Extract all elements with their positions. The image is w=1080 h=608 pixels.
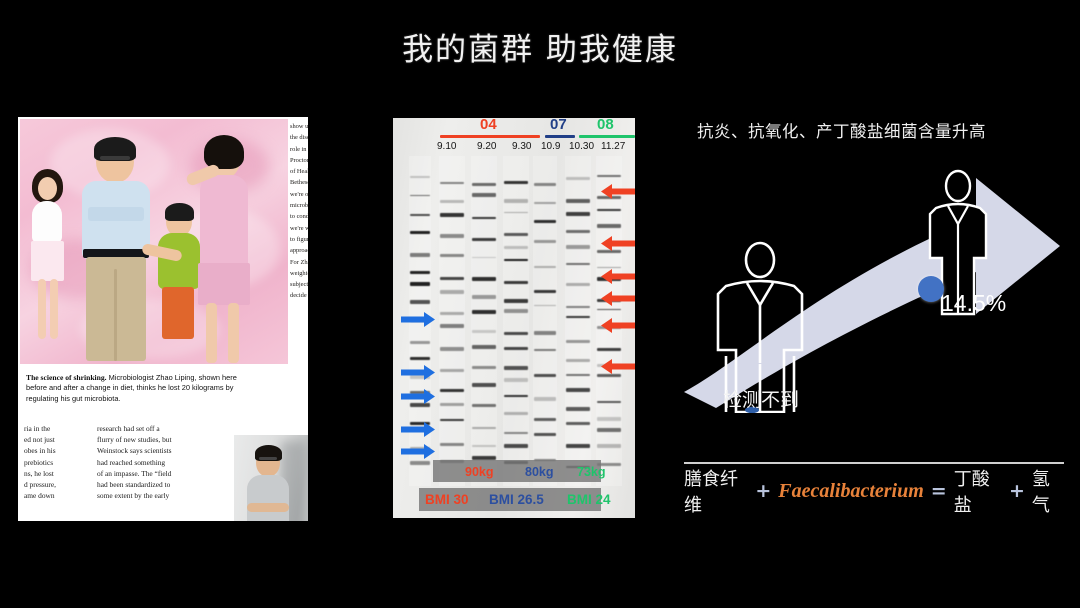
magazine-body-line: some extent by the early bbox=[97, 490, 201, 501]
gel-band bbox=[440, 213, 464, 217]
gel-band bbox=[504, 199, 528, 203]
gel-band bbox=[472, 310, 496, 314]
gel-band bbox=[440, 254, 464, 257]
gel-band bbox=[597, 444, 621, 448]
gel-band bbox=[504, 259, 528, 261]
magazine-side-line: the disease bbox=[290, 132, 308, 143]
gel-band bbox=[410, 341, 430, 344]
gel-band bbox=[440, 200, 464, 203]
gel-band bbox=[410, 214, 430, 216]
magazine-body-line: ns, he lost bbox=[24, 468, 88, 479]
gel-band bbox=[472, 445, 496, 448]
gel-band bbox=[566, 230, 590, 233]
gel-band bbox=[566, 212, 590, 216]
gel-band bbox=[597, 417, 621, 421]
gel-band bbox=[472, 183, 496, 185]
gel-band bbox=[597, 224, 621, 228]
gel-band bbox=[410, 271, 430, 274]
gel-date-label: 9.10 bbox=[437, 141, 456, 152]
photo-caption: The science of shrinking. Microbiologist… bbox=[26, 373, 238, 404]
slide-root: 我的菌群 助我健康 bbox=[0, 0, 1080, 608]
gel-band bbox=[472, 345, 496, 349]
after-photo-inset bbox=[232, 433, 308, 521]
magazine-side-line: to conduc bbox=[290, 211, 308, 222]
magazine-side-line: role in is ju bbox=[290, 144, 308, 155]
gel-band bbox=[504, 181, 528, 183]
dgge-gel-panel: 0407089.109.209.3010.910.3011.27 90kg80k… bbox=[385, 108, 643, 526]
magazine-clipping: show up onthe diseaserole in is juProcto… bbox=[18, 117, 308, 521]
gel-band bbox=[472, 217, 496, 219]
gel-band bbox=[410, 231, 430, 235]
gel-group-label: 04 bbox=[480, 116, 497, 133]
magazine-body-col-left: ria in theed not justobes in hisprebioti… bbox=[24, 423, 88, 501]
magazine-side-line: we're only bbox=[290, 189, 308, 200]
magazine-body-line: obes in his bbox=[24, 445, 88, 456]
gel-arrow-increase bbox=[601, 290, 635, 307]
equation-plus-2: + bbox=[1009, 480, 1025, 502]
equation-species: Faecalibacterium bbox=[778, 480, 924, 503]
gel-band bbox=[440, 389, 464, 392]
gel-band bbox=[440, 234, 464, 238]
gel-band bbox=[534, 397, 556, 401]
equation-term-butyrate: 丁酸盐 bbox=[954, 465, 1002, 517]
gel-arrow-decrease bbox=[401, 421, 435, 438]
gel-band bbox=[566, 388, 590, 392]
gel-group-underline bbox=[440, 135, 540, 138]
gel-band bbox=[472, 295, 496, 299]
gel-band bbox=[534, 220, 556, 223]
magazine-body-line: research had set off a bbox=[97, 423, 201, 434]
gel-band bbox=[566, 306, 590, 308]
gel-band bbox=[534, 266, 556, 268]
gel-arrow-increase bbox=[601, 268, 635, 285]
gel-band bbox=[534, 183, 556, 186]
gel-weight-label: 73kg bbox=[577, 465, 606, 479]
gel-band bbox=[566, 340, 590, 343]
caption-lead: The science of shrinking. bbox=[26, 373, 107, 382]
gel-date-label: 9.30 bbox=[512, 141, 531, 152]
gel-band bbox=[597, 175, 621, 178]
gel-weight-label: 90kg bbox=[465, 465, 494, 479]
gel-band bbox=[566, 177, 590, 181]
gel-band bbox=[566, 407, 590, 411]
magazine-side-line: microbiom bbox=[290, 200, 308, 211]
gel-lane bbox=[533, 156, 557, 486]
gel-band bbox=[440, 443, 464, 446]
equation-equals: = bbox=[931, 480, 947, 502]
gel-band bbox=[410, 253, 430, 257]
magazine-body-line: ame down bbox=[24, 490, 88, 501]
gel-band bbox=[504, 432, 528, 434]
gel-band bbox=[597, 428, 621, 432]
gel-band bbox=[534, 305, 556, 307]
gel-group-label: 07 bbox=[550, 116, 567, 133]
gel-bmi-label: BMI 24 bbox=[567, 492, 611, 507]
gel-band bbox=[566, 359, 590, 362]
gel-band bbox=[504, 246, 528, 249]
equation-bar: 膳食纤维 + Faecalibacterium = 丁酸盐 + 氢气 bbox=[684, 473, 1064, 509]
undetectable-label: 检测不到 bbox=[723, 385, 799, 412]
gel-band bbox=[440, 347, 464, 351]
gel-arrow-increase bbox=[601, 317, 635, 334]
gel-arrow-increase bbox=[601, 235, 635, 252]
gel-band bbox=[440, 369, 464, 372]
gel-band bbox=[504, 281, 528, 284]
magazine-body: ria in theed not justobes in hisprebioti… bbox=[24, 423, 242, 501]
gel-band bbox=[440, 182, 464, 184]
gel-band bbox=[410, 300, 430, 304]
magazine-body-col-right: research had set off aflurry of new stud… bbox=[97, 423, 201, 501]
gel-group-underline bbox=[579, 135, 635, 138]
magazine-side-line: of Health' bbox=[290, 166, 308, 177]
gel-band bbox=[410, 282, 430, 285]
magazine-side-line: For Zha bbox=[290, 257, 308, 268]
gel-band bbox=[440, 403, 464, 406]
gel-band bbox=[504, 332, 528, 335]
gel-band bbox=[566, 199, 590, 202]
gel-band bbox=[472, 193, 496, 197]
magazine-body-line: had reached something bbox=[97, 457, 201, 468]
gel-band bbox=[534, 374, 556, 376]
gel-band bbox=[534, 418, 556, 421]
magazine-body-line: had been standardized to bbox=[97, 479, 201, 490]
gel-band bbox=[504, 347, 528, 350]
gel-lane bbox=[503, 156, 529, 486]
gel-lane bbox=[471, 156, 497, 486]
magazine-body-line: of an impasse. The “field bbox=[97, 468, 201, 479]
magazine-side-line: Proctor, dir bbox=[290, 155, 308, 166]
gel-band bbox=[566, 263, 590, 265]
gel-band bbox=[440, 419, 464, 421]
gel-band bbox=[566, 283, 590, 286]
gel-arrow-decrease bbox=[401, 388, 435, 405]
gel-date-label: 10.30 bbox=[569, 141, 594, 152]
gel-band bbox=[504, 412, 528, 416]
gel-lane bbox=[439, 156, 465, 486]
gel-band bbox=[504, 366, 528, 370]
gel-band bbox=[566, 444, 590, 448]
page-title: 我的菌群 助我健康 bbox=[0, 24, 1080, 69]
magazine-side-line: to figure o bbox=[290, 234, 308, 245]
gel-band bbox=[472, 366, 496, 369]
gel-group-label: 08 bbox=[597, 116, 614, 133]
gel-date-label: 11.27 bbox=[601, 141, 625, 152]
equation-term-hydrogen: 氢气 bbox=[1032, 465, 1064, 517]
gel-bmi-label: BMI 26.5 bbox=[489, 492, 544, 507]
gel-band bbox=[472, 330, 496, 333]
gel-band bbox=[472, 404, 496, 407]
magazine-body-line: prebiotics bbox=[24, 457, 88, 468]
gel-band bbox=[472, 383, 496, 387]
gel-arrow-decrease bbox=[401, 364, 435, 381]
weight-bar bbox=[433, 460, 601, 482]
gel-band bbox=[410, 357, 430, 360]
gel-arrow-increase bbox=[601, 183, 635, 200]
magazine-side-line: subjects a bbox=[290, 279, 308, 290]
gel-band bbox=[504, 395, 528, 397]
gel-arrow-decrease bbox=[401, 443, 435, 460]
magazine-body-line: flurry of new studies, but bbox=[97, 434, 201, 445]
gel-bmi-label: BMI 30 bbox=[425, 492, 469, 507]
gel-band bbox=[504, 309, 528, 313]
family-photo bbox=[20, 119, 288, 364]
gel-band bbox=[440, 312, 464, 315]
magazine-side-line: weight-los bbox=[290, 268, 308, 279]
gel-band bbox=[566, 422, 590, 425]
gel-band bbox=[566, 316, 590, 318]
gel-band bbox=[534, 331, 556, 335]
gel-band bbox=[472, 427, 496, 429]
magazine-side-line: Bethesda, bbox=[290, 177, 308, 188]
gel-group-underline bbox=[545, 135, 575, 138]
magazine-body-line: Weinstock says scientists bbox=[97, 445, 201, 456]
gel-band bbox=[472, 277, 496, 281]
gel-lane bbox=[565, 156, 591, 486]
magazine-side-column-text: show up onthe diseaserole in is juProcto… bbox=[290, 121, 308, 302]
gel-band bbox=[504, 444, 528, 448]
magazine-body-line: ria in the bbox=[24, 423, 88, 434]
magazine-body-line: d pressure, bbox=[24, 479, 88, 490]
gel-band bbox=[534, 290, 556, 293]
gel-date-label: 10.9 bbox=[541, 141, 560, 152]
gel-arrow-increase bbox=[601, 358, 635, 375]
magazine-side-line: show up on bbox=[290, 121, 308, 132]
equation-plus-1: + bbox=[755, 480, 771, 502]
gel-band bbox=[440, 290, 464, 294]
gel-band bbox=[440, 277, 464, 280]
gel-band bbox=[440, 324, 464, 328]
gel-date-label: 9.20 bbox=[477, 141, 496, 152]
gel-band bbox=[504, 233, 528, 236]
gel-band bbox=[504, 378, 528, 382]
gel-weight-label: 80kg bbox=[525, 465, 554, 479]
equation-divider bbox=[684, 462, 1064, 464]
magazine-side-line: we're witn bbox=[290, 223, 308, 234]
gel-band bbox=[597, 348, 621, 350]
gel-band bbox=[534, 433, 556, 436]
gel-band bbox=[472, 238, 496, 241]
gel-band bbox=[504, 299, 528, 303]
gel-arrow-decrease bbox=[401, 311, 435, 328]
equation-term-fiber: 膳食纤维 bbox=[684, 465, 748, 517]
gel-band bbox=[534, 240, 556, 243]
abundance-value: 14.5% bbox=[941, 290, 1006, 317]
magazine-side-line: approach [ bbox=[290, 245, 308, 256]
magazine-body-line: ed not just bbox=[24, 434, 88, 445]
gel-band bbox=[410, 461, 430, 465]
gel-band bbox=[597, 401, 621, 404]
right-panel-header: 抗炎、抗氧化、产丁酸盐细菌含量升高 bbox=[697, 118, 986, 142]
magazine-side-line: decide wha bbox=[290, 290, 308, 301]
gel-band bbox=[566, 245, 590, 249]
